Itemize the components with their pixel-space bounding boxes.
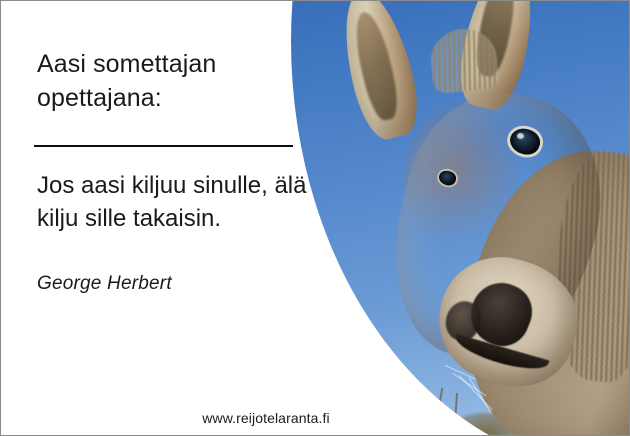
quote-card: Aasi somettajan opettajana: Jos aasi kil… bbox=[0, 0, 630, 436]
quote-attribution: George Herbert bbox=[37, 273, 172, 295]
page-title: Aasi somettajan opettajana: bbox=[37, 47, 302, 115]
donkey-eye-glint bbox=[517, 133, 524, 139]
site-url: www.reijotelaranta.fi bbox=[1, 410, 531, 426]
title-divider bbox=[34, 145, 293, 147]
quote-text: Jos aasi kiljuu sinulle, älä kilju sille… bbox=[37, 169, 309, 235]
